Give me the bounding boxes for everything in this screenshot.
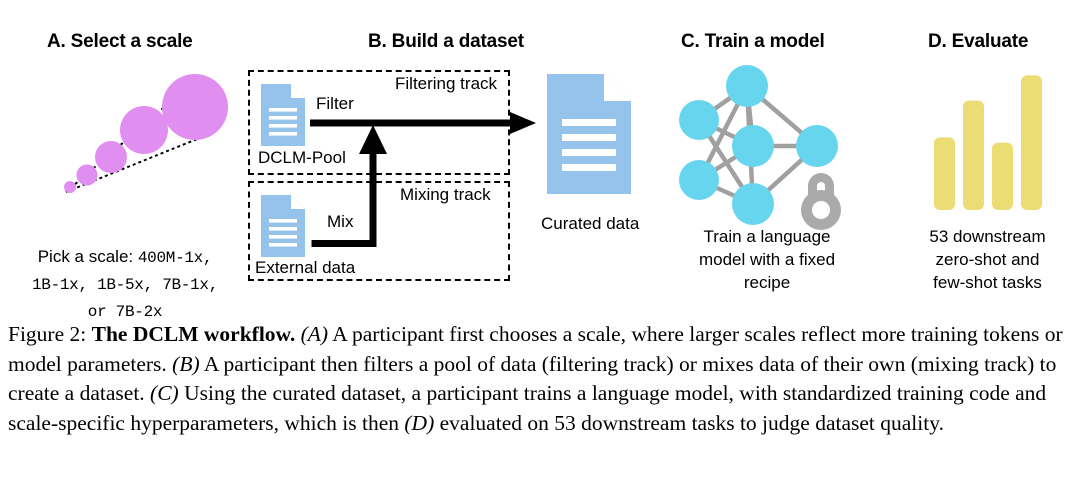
caption-tag-c: (C): [150, 381, 179, 405]
scale-circle-4: [120, 106, 168, 154]
caption-tag-d: (D): [404, 411, 434, 435]
eval-bar-4: [1021, 75, 1042, 210]
evaluation-bar-chart: [928, 68, 1048, 210]
mix-arrow: [308, 122, 398, 247]
eval-bar-2: [963, 101, 984, 210]
panel-c-caption: Train a language model with a fixed reci…: [672, 225, 862, 294]
eval-bar-3: [992, 143, 1013, 210]
panel-a-title: A. Select a scale: [47, 31, 193, 53]
external-data-label: External data: [255, 258, 355, 278]
caption-text-d: evaluated on 53 downstream tasks to judg…: [434, 411, 944, 435]
curated-data-document-icon: [547, 74, 631, 194]
network-node-bottom: [732, 183, 774, 225]
filtering-track-label: Filtering track: [395, 74, 497, 94]
curated-data-label: Curated data: [541, 214, 639, 234]
scale-circle-2: [77, 165, 98, 186]
panel-b-title: B. Build a dataset: [368, 31, 524, 53]
caption-tag-a: (A): [301, 322, 328, 346]
eval-bar-1: [934, 137, 955, 210]
scale-cone-graphic: [30, 55, 230, 205]
mixing-track-label: Mixing track: [400, 185, 491, 205]
panel-c-title: C. Train a model: [681, 31, 825, 53]
pick-a-scale-text: Pick a scale:: [38, 247, 138, 266]
scale-circle-5: [162, 74, 228, 140]
neural-network-graphic: [675, 62, 855, 232]
network-node-left-upper: [679, 100, 719, 140]
figure-container: A. Select a scale Pick a scale: 400M-1x,…: [0, 0, 1080, 498]
figure-caption: Figure 2: The DCLM workflow. (A) A parti…: [8, 320, 1072, 438]
scale-circle-3: [95, 141, 127, 173]
scale-circle-1: [64, 181, 76, 193]
caption-bold-title: The DCLM workflow.: [92, 322, 296, 346]
external-data-document-icon: [261, 195, 305, 257]
panel-d-title: D. Evaluate: [928, 31, 1028, 53]
padlock-icon: [801, 173, 841, 230]
panel-d-caption: 53 downstream zero-shot and few-shot tas…: [895, 225, 1080, 294]
network-node-center: [732, 125, 774, 167]
network-node-top: [726, 65, 768, 107]
panel-a-caption: Pick a scale: 400M-1x, 1B-1x, 1B-5x, 7B-…: [10, 219, 240, 325]
network-node-left-lower: [679, 160, 719, 200]
caption-tag-b: (B): [172, 352, 199, 376]
network-node-right: [796, 125, 838, 167]
dclm-pool-document-icon: [261, 84, 305, 146]
caption-figure-label: Figure 2:: [8, 322, 86, 346]
